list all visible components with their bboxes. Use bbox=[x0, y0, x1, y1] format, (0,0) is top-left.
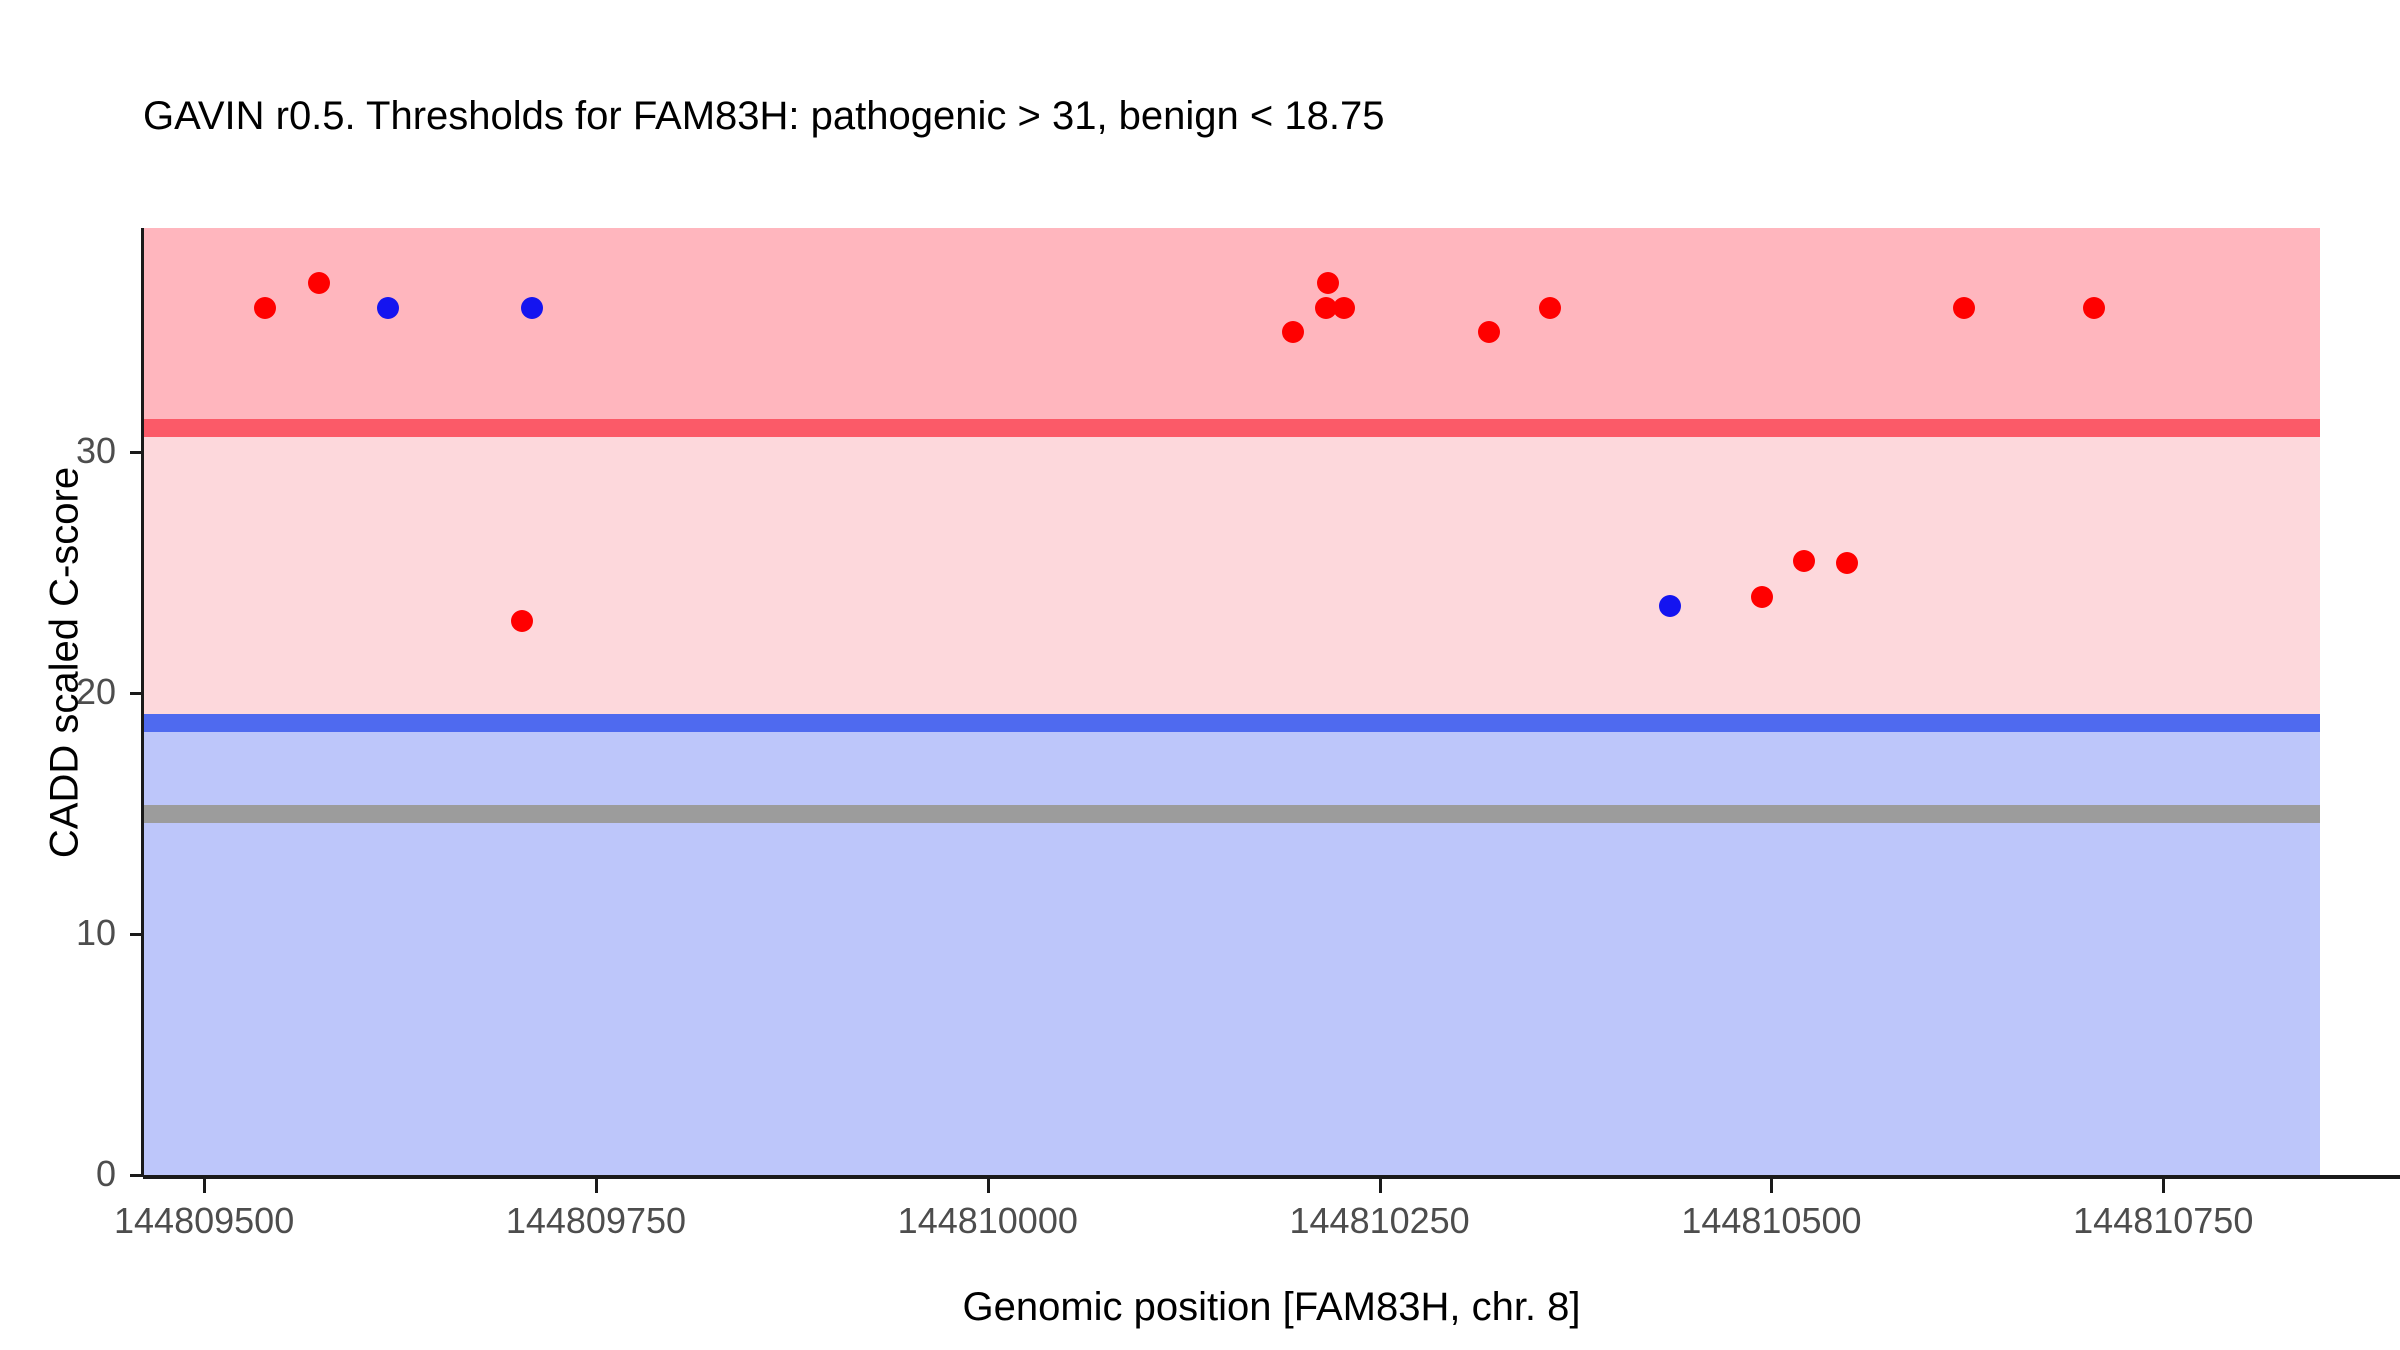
clinvar-variant-point bbox=[1539, 297, 1561, 319]
x-tick-mark bbox=[987, 1179, 990, 1193]
threshold-line-pathogenic bbox=[143, 419, 2320, 437]
clinvar-variant-point bbox=[308, 272, 330, 294]
plot-panel bbox=[143, 228, 2320, 1175]
x-tick-mark bbox=[1770, 1179, 1773, 1193]
x-tick-mark bbox=[203, 1179, 206, 1193]
x-tick-mark bbox=[2162, 1179, 2165, 1193]
x-tick-label: 144810750 bbox=[2013, 1200, 2313, 1242]
x-axis-line bbox=[143, 1175, 2400, 1179]
clinvar-variant-point bbox=[2083, 297, 2105, 319]
clinvar-variant-point bbox=[1282, 321, 1304, 343]
x-tick-mark bbox=[1379, 1179, 1382, 1193]
y-tick-mark bbox=[130, 692, 143, 695]
gnomad-variant-point bbox=[1659, 595, 1681, 617]
x-tick-label: 144810000 bbox=[838, 1200, 1138, 1242]
clinvar-variant-point bbox=[1793, 550, 1815, 572]
y-tick-mark bbox=[130, 451, 143, 454]
clinvar-variant-point bbox=[254, 297, 276, 319]
clinvar-variant-point bbox=[1836, 552, 1858, 574]
threshold-line-benign bbox=[143, 714, 2320, 732]
y-axis-title: CADD scaled C-score bbox=[43, 253, 88, 1073]
clinvar-variant-point bbox=[1953, 297, 1975, 319]
x-tick-mark bbox=[595, 1179, 598, 1193]
clinvar-variant-point bbox=[1478, 321, 1500, 343]
clinvar-variant-point bbox=[1333, 297, 1355, 319]
y-tick-mark bbox=[130, 933, 143, 936]
x-tick-label: 144810250 bbox=[1230, 1200, 1530, 1242]
x-tick-label: 144809750 bbox=[446, 1200, 746, 1242]
gnomad-variant-point bbox=[521, 297, 543, 319]
x-axis-title: Genomic position [FAM83H, chr. 8] bbox=[143, 1285, 2400, 1330]
x-tick-label: 144810500 bbox=[1621, 1200, 1921, 1242]
y-tick-mark bbox=[130, 1174, 143, 1177]
x-tick-label: 144809500 bbox=[54, 1200, 354, 1242]
band-benign bbox=[143, 723, 2320, 1175]
chart-root: GAVIN r0.5. Thresholds for FAM83H: patho… bbox=[0, 0, 2400, 1350]
clinvar-variant-point bbox=[1751, 586, 1773, 608]
clinvar-variant-point bbox=[511, 610, 533, 632]
title-line-1: GAVIN r0.5. Thresholds for FAM83H: patho… bbox=[143, 94, 2243, 138]
band-pathogenic bbox=[143, 228, 2320, 428]
y-axis-line bbox=[141, 228, 144, 1177]
y-tick-label: 0 bbox=[6, 1153, 116, 1195]
threshold-line-genome-wide-fallback bbox=[143, 805, 2320, 823]
band-vus bbox=[143, 428, 2320, 723]
gnomad-variant-point bbox=[377, 297, 399, 319]
